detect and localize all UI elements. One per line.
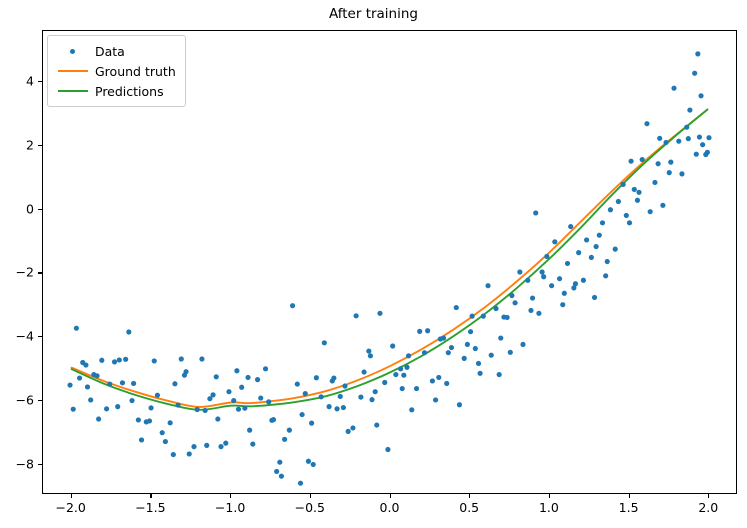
x-tick-label: 1.0 (539, 500, 559, 515)
x-tick-mark (150, 494, 151, 498)
x-tick-mark (708, 494, 709, 498)
legend-label: Predictions (95, 84, 164, 99)
legend-item-ground-truth: Ground truth (55, 61, 176, 81)
x-tick-mark (469, 494, 470, 498)
legend-item-predictions: Predictions (55, 81, 176, 101)
x-tick-label: 1.5 (619, 500, 639, 515)
x-tick-label: −2.0 (56, 500, 86, 515)
ground-truth-line-icon (55, 64, 91, 78)
legend-label: Ground truth (95, 64, 176, 79)
x-tick-mark (629, 494, 630, 498)
x-tick-label: 0.5 (459, 500, 479, 515)
x-tick-label: 2.0 (698, 500, 718, 515)
predictions-line-icon (55, 84, 91, 98)
legend: Data Ground truth Predictions (47, 35, 186, 107)
x-tick-mark (230, 494, 231, 498)
matplotlib-figure: After training 420−2−4−6−8 −2.0−1.5−1.0−… (0, 0, 747, 528)
x-tick-label: −1.5 (135, 500, 165, 515)
legend-item-data: Data (55, 41, 176, 61)
x-tick-label: −0.5 (295, 500, 325, 515)
x-tick-mark (549, 494, 550, 498)
x-tick-label: −1.0 (215, 500, 245, 515)
x-tick-mark (71, 494, 72, 498)
x-tick-label: 0.0 (380, 500, 400, 515)
data-marker-icon (55, 44, 91, 58)
x-tick-mark (310, 494, 311, 498)
x-tick-mark (390, 494, 391, 498)
legend-label: Data (95, 44, 125, 59)
